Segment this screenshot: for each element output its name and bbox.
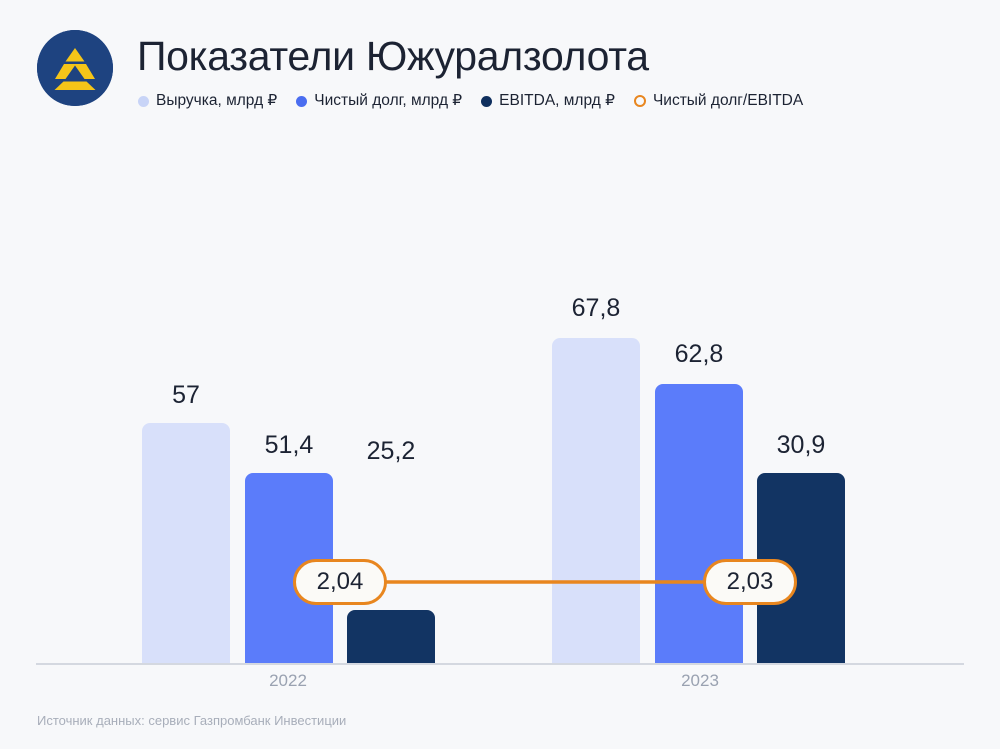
ratio-pill-2022[interactable]: 2,04 [293, 559, 387, 605]
bar-label-2022-ebitda: 25,2 [347, 436, 435, 466]
legend-dot-ebitda-icon [481, 96, 492, 107]
x-tick-label-2022: 2022 [208, 670, 368, 692]
legend-label-revenue: Выручка, млрд ₽ [156, 91, 277, 111]
source-note: Источник данных: сервис Газпромбанк Инве… [37, 712, 346, 730]
bar-label-2023-ebitda: 30,9 [757, 430, 845, 460]
bar-label-2023-revenue: 67,8 [552, 293, 640, 323]
bar-2023-revenue[interactable] [552, 338, 640, 663]
yuzhuralzoloto-triangle-logo-icon [37, 30, 113, 106]
ratio-value-2022: 2,04 [317, 568, 364, 596]
legend-label-ebitda: EBITDA, млрд ₽ [499, 91, 615, 111]
legend-label-net-debt-ebitda-ratio: Чистый долг/EBITDA [653, 91, 803, 111]
chart-legend: Выручка, млрд ₽ Чистый долг, млрд ₽ EBIT… [138, 91, 803, 111]
bar-2022-revenue[interactable] [142, 423, 230, 663]
chart-plot-area: 57 51,4 25,2 2022 67,8 62,8 30,9 2023 2,… [0, 140, 1000, 670]
bar-label-2022-revenue: 57 [142, 380, 230, 410]
bar-2022-ebitda[interactable] [347, 610, 435, 663]
legend-item-revenue[interactable]: Выручка, млрд ₽ [138, 91, 277, 111]
ratio-value-2023: 2,03 [727, 568, 774, 596]
bar-label-2023-net-debt: 62,8 [655, 339, 743, 369]
chart-header: Показатели Южуралзолота Выручка, млрд ₽ … [0, 0, 1000, 140]
ratio-pill-2023[interactable]: 2,03 [703, 559, 797, 605]
legend-dot-revenue-icon [138, 96, 149, 107]
x-axis-line [36, 663, 964, 665]
legend-ring-net-debt-ebitda-icon [634, 95, 646, 107]
bar-2023-net-debt[interactable] [655, 384, 743, 663]
page-title: Показатели Южуралзолота [137, 28, 649, 84]
chart-screenshot: Показатели Южуралзолота Выручка, млрд ₽ … [0, 0, 1000, 749]
legend-item-net-debt[interactable]: Чистый долг, млрд ₽ [296, 91, 462, 111]
legend-item-net-debt-ebitda-ratio[interactable]: Чистый долг/EBITDA [634, 91, 803, 111]
legend-dot-net-debt-icon [296, 96, 307, 107]
bar-label-2022-net-debt: 51,4 [245, 430, 333, 460]
x-tick-label-2023: 2023 [620, 670, 780, 692]
legend-label-net-debt: Чистый долг, млрд ₽ [314, 91, 462, 111]
legend-item-ebitda[interactable]: EBITDA, млрд ₽ [481, 91, 615, 111]
